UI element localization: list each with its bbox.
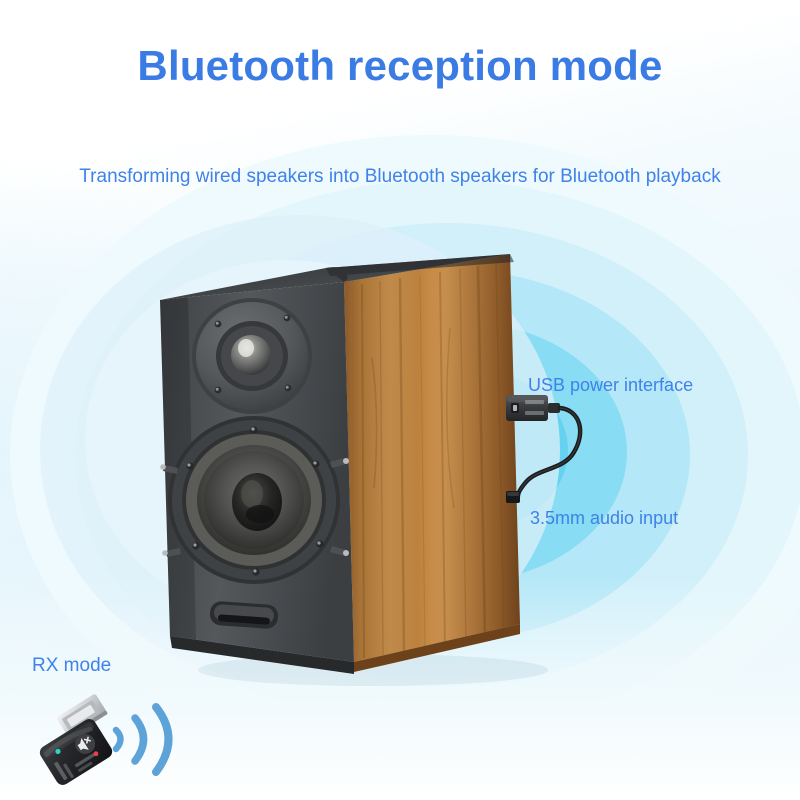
callout-rx-mode: RX mode: [32, 655, 111, 677]
callout-usb-power-interface: USB power interface: [528, 375, 693, 396]
bluetooth-audio-adapter: [498, 390, 608, 515]
page-subtitle: Transforming wired speakers into Bluetoo…: [0, 166, 800, 188]
page-title: Bluetooth reception mode: [0, 44, 800, 88]
bass-port: [209, 601, 279, 630]
callout-audio-input: 3.5mm audio input: [530, 508, 678, 529]
tweeter: [192, 298, 312, 414]
bluetooth-signal-waves-icon: [108, 700, 184, 778]
product-infographic: Bluetooth reception mode Transforming wi…: [0, 0, 800, 800]
adapter-cable: [518, 408, 580, 496]
